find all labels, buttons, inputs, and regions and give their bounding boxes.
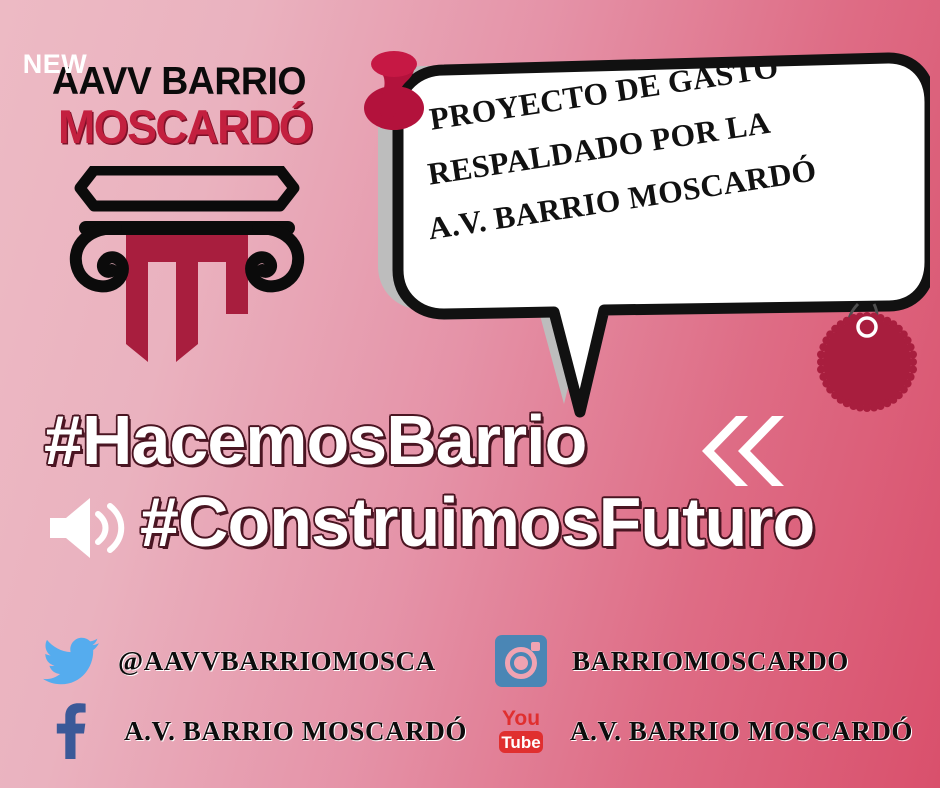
svg-text:Tube: Tube — [501, 733, 540, 752]
social-row-instagram[interactable]: BARRIOMOSCARDO — [492, 632, 849, 690]
social-row-facebook[interactable]: A.V. BARRIO MOSCARDÓ — [42, 702, 467, 760]
speaker-sound-icon — [46, 492, 132, 564]
social-row-twitter[interactable]: @AAVVBARRIOMOSCA — [42, 632, 436, 690]
hashtag-primary: #HacemosBarrio — [44, 405, 586, 475]
poster-canvas: AAVV BARRIO MOSCARDÓ PROYECTO DE GASTO R… — [0, 0, 940, 788]
social-row-youtube[interactable]: You Tube A.V. BARRIO MOSCARDÓ — [492, 702, 913, 760]
starburst-tag-icon — [812, 302, 922, 414]
facebook-f-icon[interactable] — [42, 702, 100, 760]
organization-logo: AAVV BARRIO MOSCARDÓ — [52, 62, 322, 357]
logo-title-line1: AAVV BARRIO — [52, 62, 311, 101]
double-chevron-left-icon — [694, 412, 786, 490]
logo-title-line2: MOSCARDÓ — [58, 103, 309, 150]
ionic-column-capital-icon — [64, 166, 310, 362]
twitter-bird-icon[interactable] — [42, 632, 100, 690]
push-pin-icon — [352, 48, 432, 134]
instagram-handle: BARRIOMOSCARDO — [572, 646, 849, 677]
facebook-page-name: A.V. BARRIO MOSCARDÓ — [124, 716, 467, 747]
hashtag-secondary: #ConstruimosFuturo — [140, 487, 814, 557]
twitter-handle: @AAVVBARRIOMOSCA — [118, 646, 436, 677]
youtube-play-icon[interactable]: You Tube — [492, 702, 550, 760]
youtube-channel-name: A.V. BARRIO MOSCARDÓ — [570, 716, 913, 747]
svg-text:You: You — [502, 707, 540, 730]
instagram-camera-icon[interactable] — [492, 632, 550, 690]
